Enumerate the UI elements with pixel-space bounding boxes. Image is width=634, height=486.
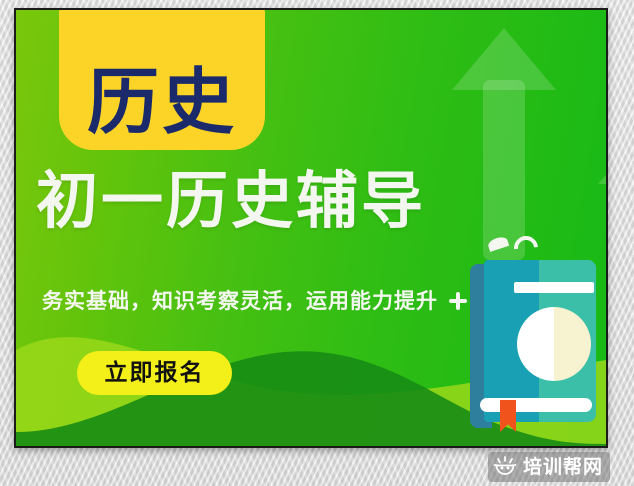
enroll-now-button-label: 立即报名 xyxy=(105,362,205,385)
book-emblem-circle xyxy=(517,307,591,381)
arrow-head xyxy=(598,130,608,184)
subject-badge: 历史 xyxy=(59,8,265,150)
enroll-now-button[interactable]: 立即报名 xyxy=(77,351,232,395)
book-bookmark-ribbon xyxy=(500,400,516,432)
page-canvas: 历史 初一历史辅导 务实基础，知识考察灵活，运用能力提升 立即报名 xyxy=(0,0,634,486)
arrow-shaft xyxy=(483,80,525,260)
book-title-bar xyxy=(514,282,594,293)
arrow-up-icon xyxy=(450,28,558,258)
book-base-bar xyxy=(480,398,592,412)
sun-face-icon xyxy=(493,456,517,478)
subtitle-text: 务实基础，知识考察灵活，运用能力提升 xyxy=(42,291,438,312)
course-promo-banner: 历史 初一历史辅导 务实基础，知识考察灵活，运用能力提升 立即报名 xyxy=(14,8,608,448)
swoosh-mark-icon xyxy=(487,235,509,252)
subject-badge-label: 历史 xyxy=(87,66,237,138)
plus-mark-icon xyxy=(456,292,460,310)
arrow-head xyxy=(452,28,556,90)
watermark: 培训帮网 xyxy=(488,452,610,482)
page-title: 初一历史辅导 xyxy=(36,170,426,232)
textbook-illustration xyxy=(470,260,596,432)
plus-mark-icon-bar xyxy=(449,299,467,303)
watermark-label: 培训帮网 xyxy=(523,458,603,477)
